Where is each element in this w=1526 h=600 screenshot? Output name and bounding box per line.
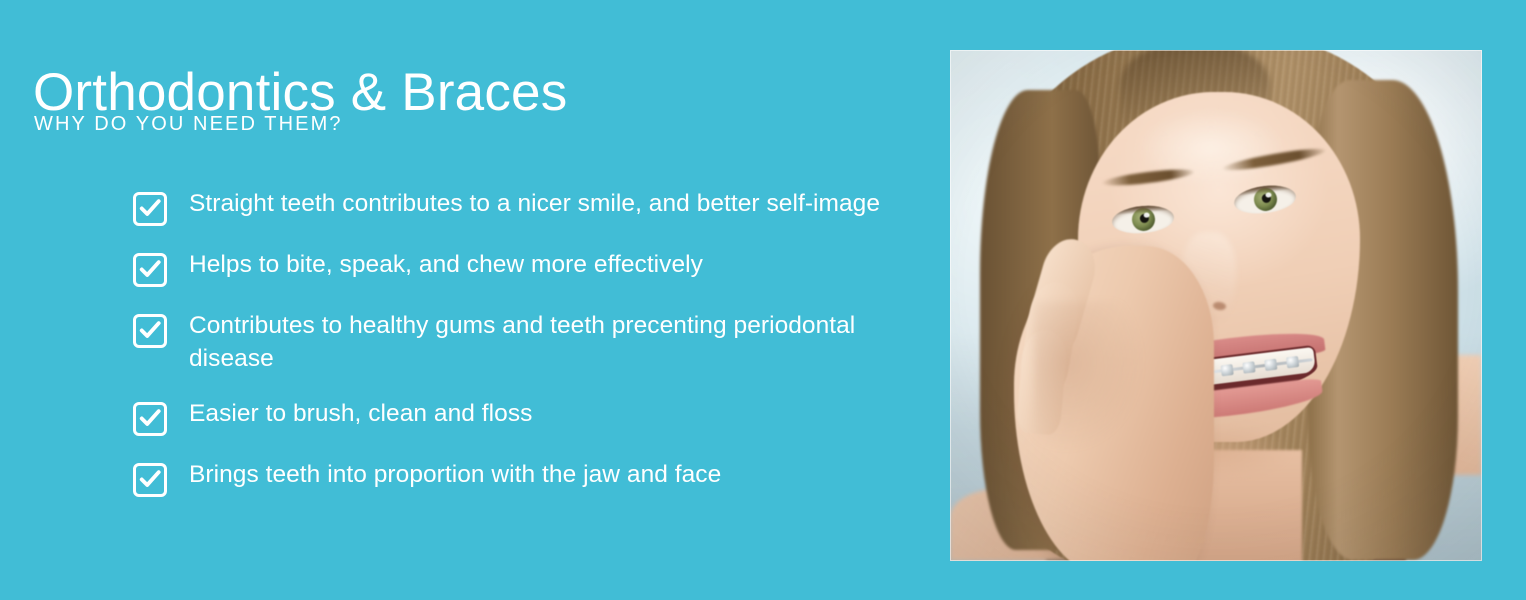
benefits-list: Straight teeth contributes to a nicer sm… (133, 188, 943, 520)
page-subtitle: WHY DO YOU NEED THEM? (34, 113, 343, 136)
benefit-text: Brings teeth into proportion with the ja… (189, 459, 721, 492)
benefit-text: Easier to brush, clean and floss (189, 398, 532, 431)
page-title: Orthodontics & Braces (33, 65, 567, 121)
photo-braces-bracket (1264, 359, 1277, 371)
photo-knuckle-shading (1034, 302, 1144, 452)
photo-eye-shine-right (1266, 193, 1273, 199)
checkbox-checked-icon (133, 402, 167, 436)
orthodontics-banner: Orthodontics & Braces WHY DO YOU NEED TH… (0, 0, 1526, 600)
checkbox-checked-icon (133, 314, 167, 348)
checkbox-checked-icon (133, 463, 167, 497)
photo-canvas (950, 50, 1482, 561)
list-item: Helps to bite, speak, and chew more effe… (133, 249, 943, 287)
banner-content: Orthodontics & Braces WHY DO YOU NEED TH… (0, 0, 950, 600)
checkbox-checked-icon (133, 253, 167, 287)
photo-braces-bracket (1220, 364, 1233, 376)
list-item: Brings teeth into proportion with the ja… (133, 459, 943, 497)
checkbox-checked-icon (133, 192, 167, 226)
photo-eye-shine-left (1144, 213, 1150, 219)
benefit-text: Helps to bite, speak, and chew more effe… (189, 249, 703, 282)
benefit-text: Straight teeth contributes to a nicer sm… (189, 188, 880, 221)
list-item: Easier to brush, clean and floss (133, 398, 943, 436)
photo-braces-bracket (1242, 361, 1255, 373)
list-item: Straight teeth contributes to a nicer sm… (133, 188, 943, 226)
benefit-text: Contributes to healthy gums and teeth pr… (189, 310, 941, 375)
smiling-girl-with-braces-photo (950, 50, 1482, 561)
photo-braces-bracket (1286, 356, 1299, 368)
list-item: Contributes to healthy gums and teeth pr… (133, 310, 943, 375)
